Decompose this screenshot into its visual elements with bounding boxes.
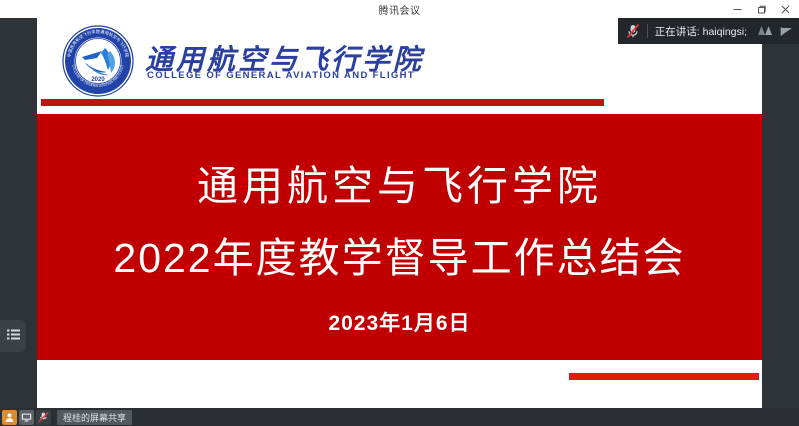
mic-muted-icon[interactable] (626, 23, 640, 39)
meeting-app-icon[interactable] (36, 410, 51, 425)
right-rail (762, 18, 799, 408)
window-title: 腾讯会议 (379, 2, 421, 17)
taskbar-active-task[interactable]: 程桂的屏幕共享 (57, 410, 132, 425)
window-controls (725, 0, 797, 18)
slide-title-banner: 通用航空与飞行学院 2022年度教学督导工作总结会 2023年1月6日 (37, 114, 762, 360)
undo-arrow-icon[interactable] (778, 22, 795, 40)
school-name-en: COLLEGE OF GENERAL AVIATION AND FLIGHT (147, 70, 415, 81)
minimize-button[interactable] (725, 0, 749, 18)
shared-screen-canvas: 2020 中国民用航空飞行学院通用航空与飞行学院 COLLEGE OF GENE… (37, 18, 762, 408)
pill-actions (757, 22, 795, 40)
tencent-meeting-window: 腾讯会议 (0, 0, 799, 426)
active-speaker-pill[interactable]: 正在讲话: haiqingsi; (618, 18, 799, 44)
list-panel-icon (7, 327, 20, 345)
monitor-icon[interactable] (19, 410, 34, 425)
emblem-year-text: 2020 (91, 77, 105, 83)
maximize-button[interactable] (749, 0, 773, 18)
user-icon[interactable] (2, 410, 17, 425)
os-taskbar: 程桂的屏幕共享 (0, 408, 799, 426)
volume-bars-icon[interactable] (757, 22, 774, 40)
window-titlebar: 腾讯会议 (0, 0, 799, 18)
footer-rule (569, 373, 759, 380)
college-emblem-icon: 2020 中国民用航空飞行学院通用航空与飞行学院 COLLEGE OF GENE… (61, 24, 135, 98)
left-rail (0, 18, 37, 408)
pill-divider (647, 24, 648, 38)
header-rule (41, 99, 604, 106)
active-speaker-label: 正在讲话: haiqingsi; (655, 24, 747, 39)
meeting-stage: 2020 中国民用航空飞行学院通用航空与飞行学院 COLLEGE OF GENE… (0, 18, 799, 408)
banner-title-line1: 通用航空与飞行学院 (37, 166, 762, 207)
banner-date: 2023年1月6日 (37, 313, 762, 334)
participants-panel-toggle[interactable] (0, 320, 26, 352)
close-button[interactable] (773, 0, 797, 18)
banner-title-line2: 2022年度教学督导工作总结会 (37, 238, 762, 279)
